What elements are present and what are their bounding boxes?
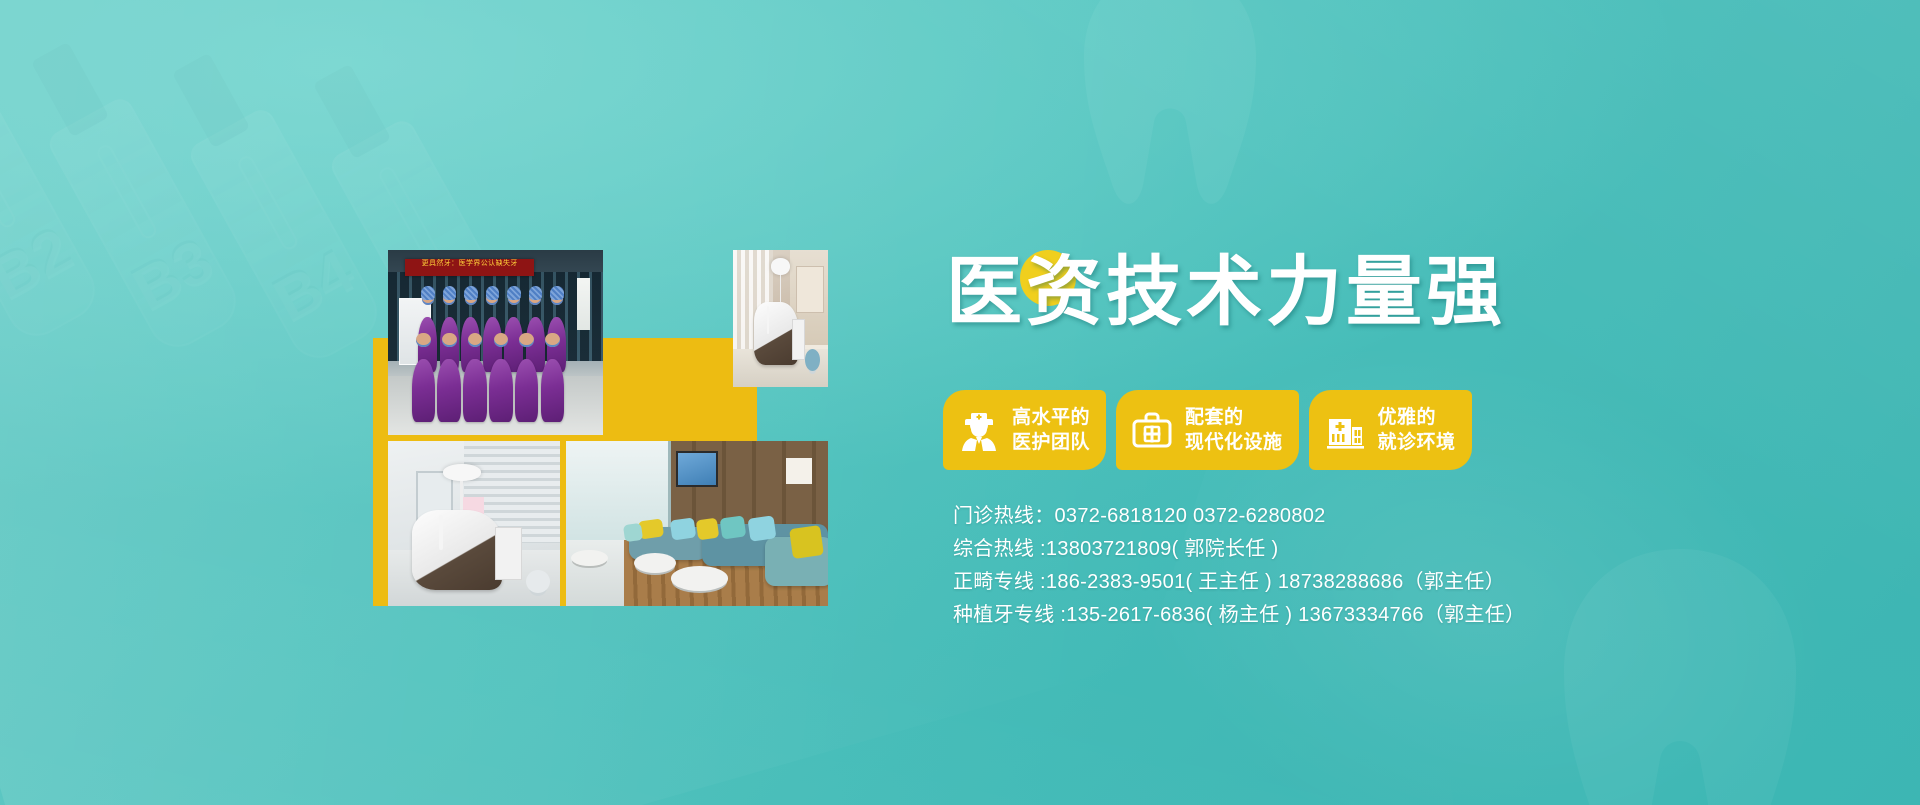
shade-tab-b3: B3: [45, 94, 247, 357]
contact-line-general[interactable]: 综合热线 :13803721809( 郭院长任 ): [953, 533, 1525, 566]
coffee-table: [634, 553, 676, 573]
feature-badge-label: 优雅的 就诊环境: [1378, 405, 1456, 455]
delivery-unit: [495, 527, 523, 580]
delivery-unit: [792, 319, 805, 360]
surgical-cap-icon: [550, 286, 564, 300]
team-photo-scene: 更具然牙：医学界公认缺失牙: [388, 250, 603, 435]
wall-cabinet: [796, 266, 825, 313]
contact-line-orthodontics[interactable]: 正畸专线 :186-2383-9501( 王主任 ) 18738288686（郭…: [953, 566, 1525, 599]
lounge-scene: [566, 441, 828, 606]
feature-label-line1: 高水平的: [1012, 405, 1090, 430]
throw-pillow: [789, 525, 824, 559]
led-banner-text: 更具然牙：医学界公认缺失牙: [405, 259, 534, 269]
surgical-cap-icon: [443, 286, 457, 300]
surgical-cap-icon: [529, 286, 543, 300]
shade-tab-slot-icon: [95, 142, 159, 241]
hospital-building-icon: [1323, 407, 1367, 453]
doctor-stool: [805, 349, 820, 371]
feature-label-line2: 就诊环境: [1378, 430, 1456, 455]
surgical-cap-icon: [507, 286, 521, 300]
shade-tab-b4: B4: [186, 105, 388, 368]
shade-tab-slot-icon: [236, 153, 300, 252]
staff-figure: [412, 359, 436, 422]
surgical-cap-icon: [421, 286, 435, 300]
nurse-icon: [957, 407, 1001, 453]
contact-line-implant[interactable]: 种植牙专线 :135-2617-6836( 杨主任 ) 13673334766（…: [953, 599, 1525, 632]
feature-badge-modern-facilities[interactable]: 配套的 现代化设施: [1116, 390, 1299, 470]
photo-dental-chair-room[interactable]: [388, 441, 560, 606]
contact-info-block: 门诊热线：0372-6818120 0372-6280802 综合热线 :138…: [953, 500, 1525, 632]
surgical-cap-icon: [486, 286, 500, 300]
head-shape: [545, 333, 560, 348]
promo-banner: B1 B2 B3 B4 C1: [0, 0, 1920, 805]
shade-tab-label: B3: [115, 221, 230, 328]
head-shape: [416, 333, 431, 348]
staff-figure: [463, 359, 487, 422]
medical-kit-icon: [1130, 407, 1174, 453]
photo-dental-operatory[interactable]: [733, 250, 828, 387]
feature-badge-label: 高水平的 医护团队: [1012, 405, 1090, 455]
throw-pillow: [670, 517, 696, 540]
red-led-banner: 更具然牙：医学界公认缺失牙: [405, 259, 534, 276]
shade-tab-slot-icon: [377, 164, 441, 263]
feature-badge-list: 高水平的 医护团队 配套的 现代化设施: [943, 390, 1472, 470]
headline-text: 医资技术力量强: [946, 238, 1506, 348]
vertical-sign: [577, 278, 590, 330]
head-shape: [442, 333, 457, 348]
wall-light-panel: [786, 458, 812, 484]
photo-collage: 更具然牙：医学界公认缺失牙: [373, 250, 828, 606]
shade-tab-b2: B2: [0, 83, 105, 346]
shade-tab-stem-icon: [31, 42, 109, 138]
shade-tab-slot-icon: [0, 131, 18, 230]
throw-pillow: [696, 517, 720, 540]
photo-waiting-lounge[interactable]: [566, 441, 828, 606]
shade-tab-stem-icon: [313, 64, 391, 160]
feature-label-line1: 优雅的: [1378, 405, 1456, 430]
headline-block: 医资技术力量强: [946, 238, 1586, 348]
staff-figure: [541, 359, 565, 422]
throw-pillow: [623, 522, 643, 541]
shade-tab-label: B2: [0, 210, 89, 317]
light-sweep-left: [0, 0, 1807, 805]
shade-tab-label: B4: [256, 232, 371, 339]
feature-label-line1: 配套的: [1185, 405, 1283, 430]
contact-line-outpatient[interactable]: 门诊热线：0372-6818120 0372-6280802: [953, 500, 1525, 533]
feature-badge-medical-team[interactable]: 高水平的 医护团队: [943, 390, 1106, 470]
feature-badge-clinic-environment[interactable]: 优雅的 就诊环境: [1309, 390, 1472, 470]
shade-tab-stem-icon: [172, 53, 250, 149]
surgical-cap-icon: [464, 286, 478, 300]
wall-tv-screen: [676, 451, 718, 487]
throw-pillow: [719, 515, 745, 540]
staff-figure: [515, 359, 539, 422]
throw-pillow: [748, 515, 777, 542]
staff-figure: [437, 359, 461, 422]
tooth-watermark-bottom: [1530, 535, 1830, 805]
dental-chair: [412, 510, 501, 589]
feature-label-line2: 现代化设施: [1185, 430, 1283, 455]
dental-lamp-icon: [771, 258, 790, 274]
doctor-stool: [526, 570, 550, 593]
staff-figure: [489, 359, 513, 422]
chair-arm: [767, 306, 769, 334]
feature-label-line2: 医护团队: [1012, 430, 1090, 455]
light-sweep-right: [740, 0, 1920, 757]
photo-team-group[interactable]: 更具然牙：医学界公认缺失牙: [388, 250, 603, 435]
feature-badge-label: 配套的 现代化设施: [1185, 405, 1283, 455]
tooth-watermark-top: [1060, 0, 1280, 220]
clinic-room-scene: [388, 441, 560, 606]
chair-arm: [439, 515, 443, 550]
dental-lamp-icon: [443, 464, 481, 481]
operatory-scene: [733, 250, 828, 387]
